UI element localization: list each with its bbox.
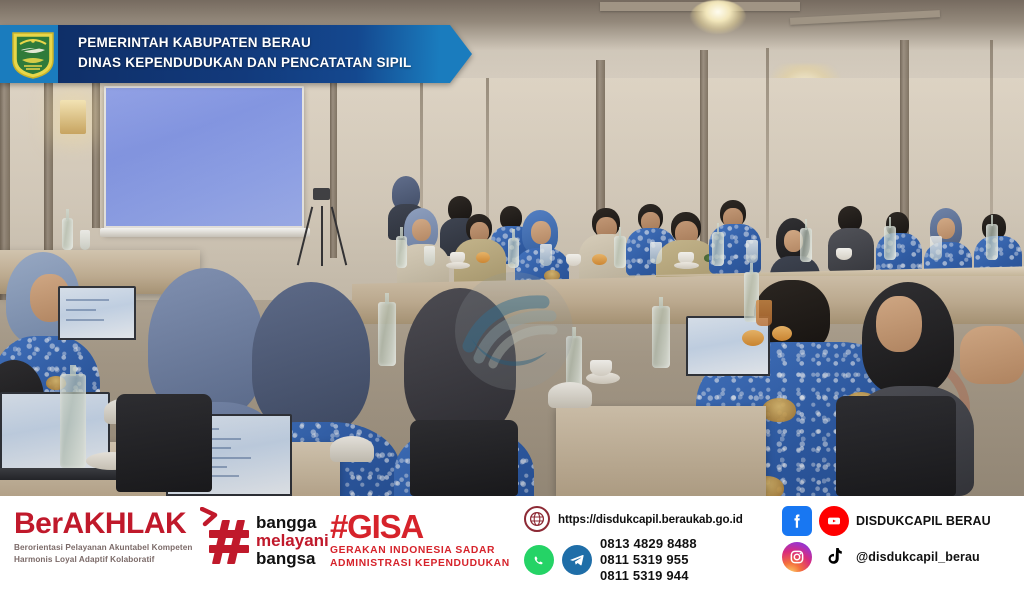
drinking-glass (80, 230, 90, 250)
instagram-tiktok-row: @disdukcapil_berau (782, 542, 1022, 572)
berakhlak-subtitle: Berorientasi Pelayanan Akuntabel Kompete… (14, 542, 204, 565)
wall-seam (486, 78, 489, 228)
ig-tt-handle[interactable]: @disdukcapil_berau (856, 550, 980, 564)
bangga-line-1: bangga (256, 514, 329, 532)
drinking-glass (650, 242, 662, 264)
gisa-logo: #GISA GERAKAN INDONESIA SADAR ADMINISTRA… (330, 510, 515, 570)
footer-bar: BerAKHLAK Berorientasi Pelayanan Akuntab… (0, 496, 1024, 600)
wall-panel-dark (900, 40, 909, 240)
gisa-sub-line1: GERAKAN INDONESIA SADAR (330, 544, 515, 557)
wall-panel-dark (700, 50, 708, 245)
gisa-title: #GISA (330, 510, 515, 544)
bangga-text: bangga melayani bangsa (256, 514, 329, 568)
water-bottle (508, 238, 519, 268)
whatsapp-icon[interactable] (524, 545, 554, 575)
drinking-glass (424, 246, 435, 266)
water-bottle (396, 236, 407, 268)
phone-row: 0813 4829 8488 0811 5319 955 0811 5319 9… (524, 536, 774, 584)
snack-plate (772, 326, 792, 341)
camera-tripod (300, 188, 344, 266)
youtube-icon[interactable] (819, 506, 849, 536)
snack-plate (592, 254, 607, 265)
chair (836, 396, 956, 496)
saucer (446, 262, 470, 269)
banner-line-1: PEMERINTAH KABUPATEN BERAU (78, 33, 412, 53)
water-bottle (986, 224, 998, 260)
header-banner: PEMERINTAH KABUPATEN BERAU DINAS KEPENDU… (0, 25, 472, 83)
snack-plate (476, 252, 490, 263)
contact-block: https://disdukcapil.beraukab.go.id 0813 … (524, 506, 774, 584)
bangga-line-3: bangsa (256, 550, 329, 568)
projection-screen-roller (100, 228, 310, 237)
banner-line-2: DINAS KEPENDUDUKAN DAN PENCATATAN SIPIL (78, 53, 412, 73)
drinking-glass (540, 244, 552, 266)
fb-yt-handle[interactable]: DISDUKCAPIL BERAU (856, 514, 991, 528)
coffee-cup (566, 254, 581, 266)
phone-numbers: 0813 4829 8488 0811 5319 955 0811 5319 9… (600, 536, 697, 584)
phone-1[interactable]: 0813 4829 8488 (600, 536, 697, 552)
laptop-base (0, 468, 124, 480)
bangga-line-2: melayani (256, 532, 329, 550)
hashtag-icon (208, 518, 250, 564)
wall-sconce-light (60, 100, 86, 134)
facebook-icon[interactable] (782, 506, 812, 536)
tiktok-icon[interactable] (819, 542, 849, 572)
facebook-youtube-row: DISDUKCAPIL BERAU (782, 506, 1022, 536)
snack-plate (742, 330, 764, 346)
coffee-cup (590, 360, 612, 376)
water-bottle (62, 218, 73, 250)
telegram-icon[interactable] (562, 545, 592, 575)
juice-glass (756, 300, 772, 326)
water-bottle (884, 226, 896, 260)
chair (116, 394, 212, 492)
berakhlak-akhlak: AKHLAK (63, 508, 187, 540)
projection-screen (106, 88, 302, 226)
banner-title-block: PEMERINTAH KABUPATEN BERAU DINAS KEPENDU… (78, 33, 412, 73)
water-bottle (614, 236, 626, 268)
saucer (674, 262, 699, 269)
water-bottle (378, 302, 396, 366)
phone-3[interactable]: 0811 5319 944 (600, 568, 697, 584)
drinking-glass (746, 240, 758, 263)
table-lamp (548, 382, 592, 408)
bangga-melayani-bangsa-logo: bangga melayani bangsa (208, 514, 329, 568)
wall-panel-dark (92, 78, 100, 228)
berakhlak-sub-line1: Berorientasi Pelayanan Akuntabel Kompete… (14, 542, 204, 554)
berakhlak-logo: BerAKHLAK Berorientasi Pelayanan Akuntab… (14, 508, 204, 565)
wall-seam (990, 40, 993, 240)
water-bottle (800, 228, 812, 262)
wall-seam (766, 48, 769, 238)
water-bottle (712, 232, 724, 266)
laptop (58, 286, 136, 340)
foreground-table (556, 406, 766, 496)
phone-2[interactable]: 0811 5319 955 (600, 552, 697, 568)
berakhlak-wordmark: BerAKHLAK (14, 508, 204, 540)
water-bottle (60, 374, 86, 468)
coffee-cup (836, 248, 852, 260)
table-lamp (330, 436, 374, 462)
chair (410, 420, 518, 496)
social-block: DISDUKCAPIL BERAU @disdukcapil_berau (782, 506, 1022, 578)
wall-seam (420, 78, 423, 228)
water-bottle (652, 306, 670, 368)
berakhlak-sub-line2: Harmonis Loyal Adaptif Kolaboratif (14, 554, 204, 566)
laptop-content (60, 288, 134, 338)
chandelier-icon (690, 0, 746, 34)
drinking-glass (930, 236, 942, 260)
website-url[interactable]: https://disdukcapil.beraukab.go.id (558, 513, 743, 526)
poster-root: PEMERINTAH KABUPATEN BERAU DINAS KEPENDU… (0, 0, 1024, 600)
berakhlak-ber: Ber (14, 508, 63, 540)
website-row[interactable]: https://disdukcapil.beraukab.go.id (524, 506, 774, 532)
globe-website-icon (524, 506, 550, 532)
gisa-sub-line2: ADMINISTRASI KEPENDUDUKAN (330, 557, 515, 570)
instagram-icon[interactable] (782, 542, 812, 572)
berau-regency-crest-icon (10, 30, 56, 80)
